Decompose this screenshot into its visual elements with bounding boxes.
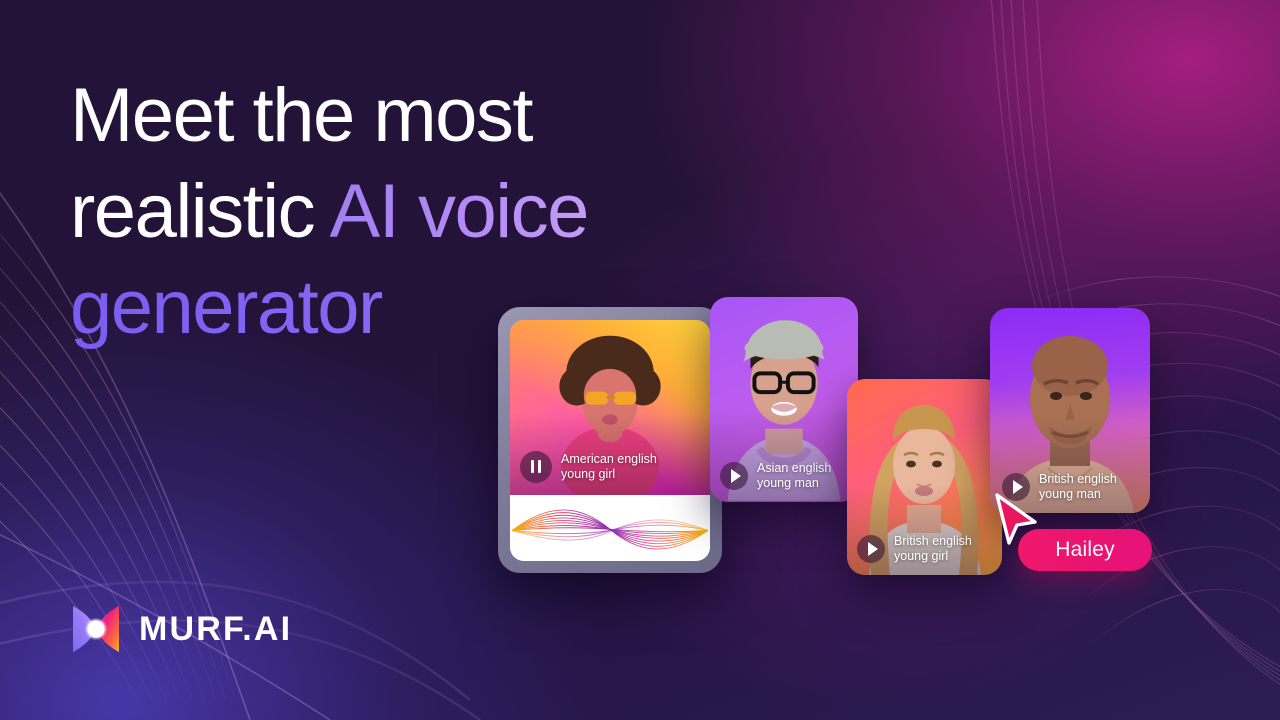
murf-bowtie-logo-icon [70,602,122,656]
headline-line-2-accent: AI voice [330,169,588,254]
voice-card-label-text: British english young girl [894,534,972,563]
brand-wordmark: MURF.AI [139,610,292,649]
play-icon[interactable] [857,535,885,563]
voice-card-british-english-young-girl[interactable]: British english young girl [847,379,1002,575]
voice-card-british-english-young-man[interactable]: British english young man [990,308,1150,513]
voice-card-label-text: British english young man [1039,472,1117,501]
pause-icon[interactable] [520,451,552,483]
headline-line-1: Meet the most [70,68,790,164]
brand-logo: MURF.AI [70,602,292,656]
play-icon[interactable] [720,462,748,490]
voice-card-american-english-young-girl[interactable]: American english young girl [498,307,722,573]
voice-card-photo: American english young girl [510,320,710,495]
mouse-pointer-icon [992,492,1040,548]
headline-line-2-plain: realistic [70,169,330,254]
voice-card-label: American english young girl [520,451,657,483]
voice-card-label: Asian english young man [720,461,831,490]
voice-card-label: British english young girl [857,534,972,563]
voice-card-label-text: Asian english young man [757,461,831,490]
hero-banner: Meet the most realistic AI voice generat… [0,0,1280,720]
voice-name-label: Hailey [1055,538,1115,562]
headline-line-2: realistic AI voice [70,164,790,260]
waveform-icon [510,495,710,561]
voice-card-asian-english-young-man[interactable]: Asian english young man [710,297,858,502]
audio-waveform [510,495,710,561]
voice-card-label-text: American english young girl [561,452,657,481]
voice-card-screen: American english young girl [510,320,710,561]
